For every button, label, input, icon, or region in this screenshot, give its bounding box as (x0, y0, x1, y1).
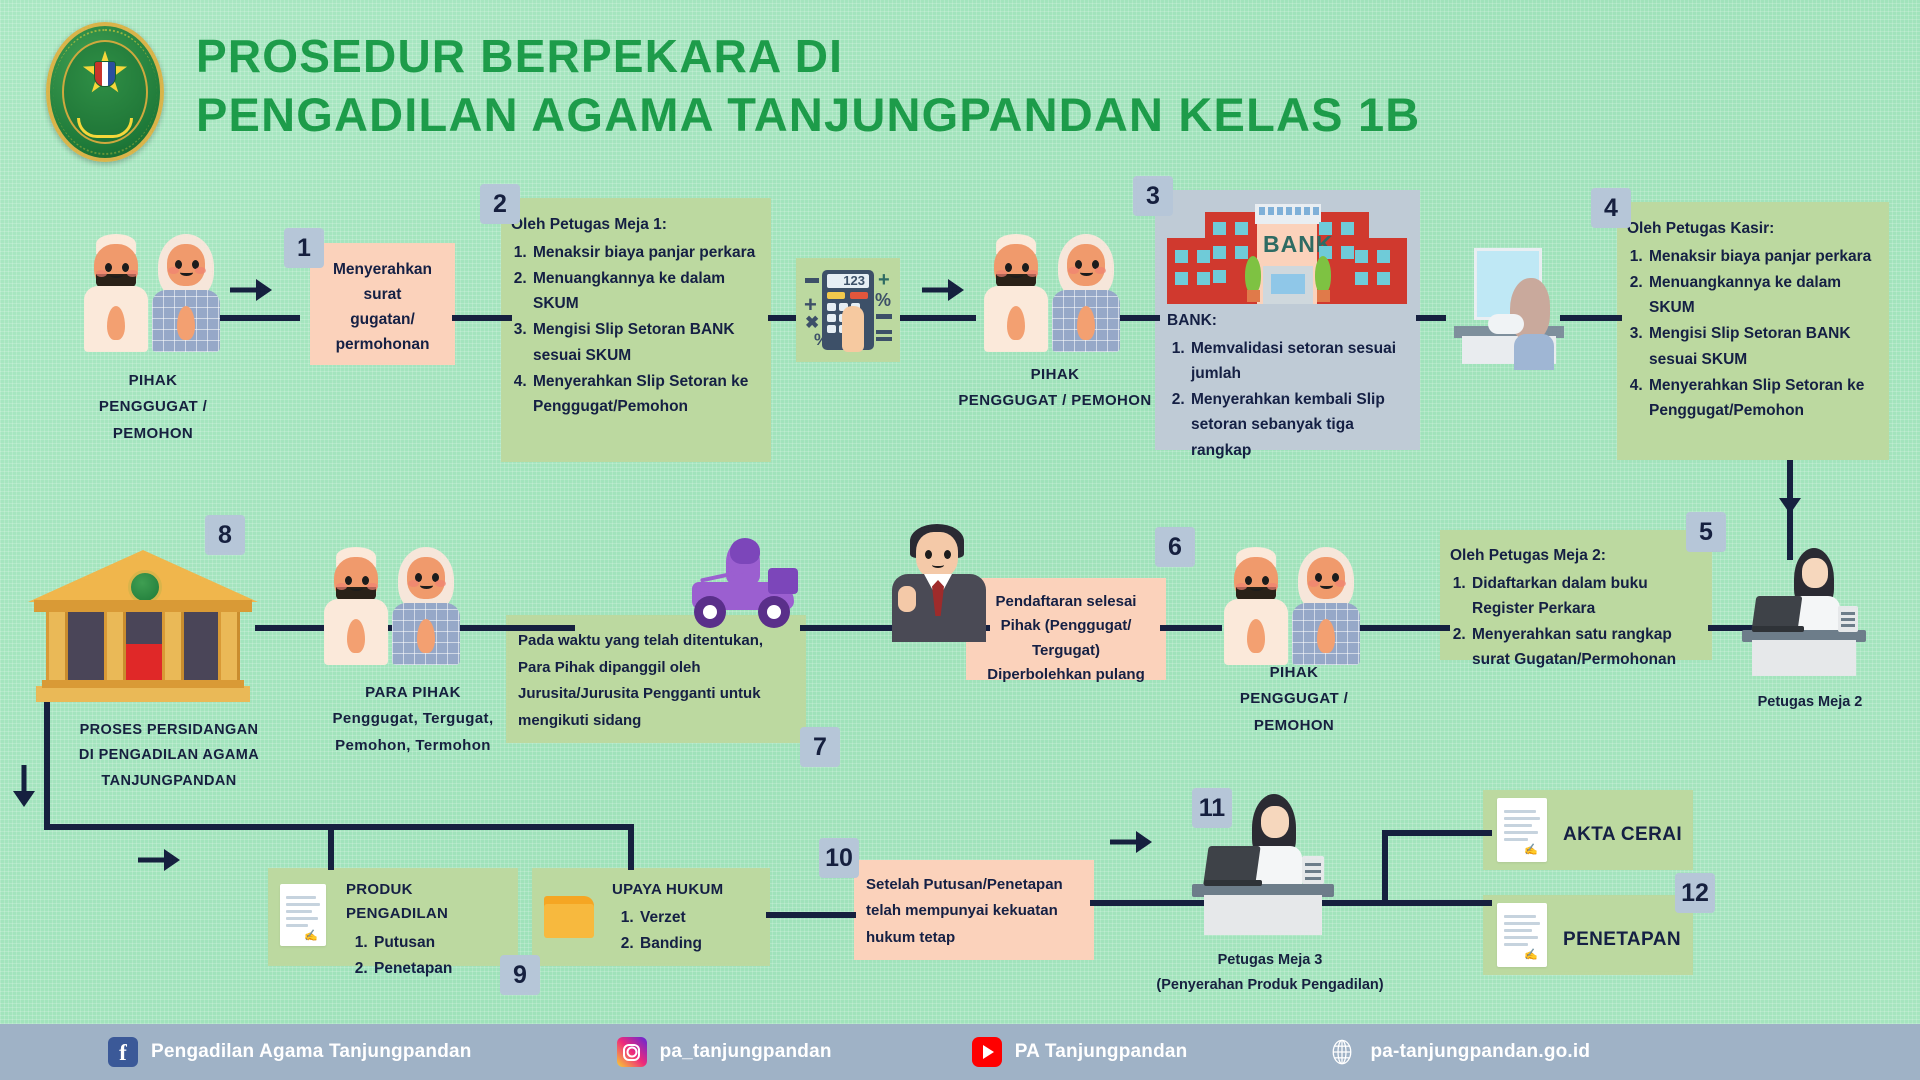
list-item: Menyerahkan Slip Setoran ke Penggugat/Pe… (1647, 373, 1879, 423)
bank-building-illustration: BANK (1167, 198, 1407, 304)
globe-icon[interactable] (1327, 1037, 1357, 1067)
list-item: Menaksir biaya panjar perkara (531, 240, 759, 265)
caption-petugas-meja-2: Petugas Meja 2 (1730, 690, 1890, 715)
list-item: Verzet (638, 905, 762, 930)
step-box-5: Oleh Petugas Meja 2: Didaftarkan dalam b… (1440, 530, 1712, 660)
list-item: Penetapan (372, 956, 510, 981)
step-box-1: Menyerahkan surat gugatan/ permohonan (310, 243, 455, 365)
equals-symbol (876, 330, 892, 334)
step-box-12-top-label: AKTA CERAI (1563, 820, 1682, 851)
step-badge-9: 9 (500, 955, 540, 995)
branch-line-2 (628, 824, 634, 870)
step-box-5-title: Oleh Petugas Meja 2: (1450, 543, 1702, 568)
step-box-10: Setelah Putusan/Penetapan telah mempunya… (854, 860, 1094, 960)
step-box-5-list: Didaftarkan dalam buku Register Perkara … (1470, 571, 1702, 672)
list-item: Menyerahkan satu rangkap surat Gugatan/P… (1470, 622, 1702, 672)
list-item: Menyerahkan Slip Setoran ke Penggugat/Pe… (531, 369, 759, 419)
courier-scooter-illustration (676, 538, 808, 630)
percent-symbol-1: % (814, 330, 829, 350)
step-box-4-list: Menaksir biaya panjar perkara Menuangkan… (1647, 244, 1879, 423)
minus-symbol-2 (876, 314, 892, 319)
step-badge-12: 12 (1675, 873, 1715, 913)
caption-parties-2: PIHAK PENGGUGAT / PEMOHON (930, 362, 1180, 415)
step-badge-5: 5 (1686, 512, 1726, 552)
footer-item-website[interactable]: pa-tanjungpandan.go.id (1327, 1037, 1590, 1067)
step-badge-10: 10 (819, 838, 859, 878)
footer-item-instagram[interactable]: pa_tanjungpandan (617, 1037, 832, 1067)
title-line-1: PROSEDUR BERPEKARA DI (196, 28, 1420, 86)
instagram-icon[interactable] (617, 1037, 647, 1067)
caption-court-process: PROSES PERSIDANGAN DI PENGADILAN AGAMA T… (24, 718, 314, 794)
step-badge-1: 1 (284, 228, 324, 268)
multiply-symbol: ✖ (805, 316, 819, 330)
footer-item-facebook[interactable]: f Pengadilan Agama Tanjungpandan (108, 1037, 472, 1067)
list-item: Menaksir biaya panjar perkara (1647, 244, 1879, 269)
branch-line-4 (1382, 830, 1492, 836)
parties-illustration-2 (978, 232, 1126, 352)
step-box-2: Oleh Petugas Meja 1: Menaksir biaya panj… (501, 198, 771, 462)
plus-symbol-2: + (878, 272, 890, 288)
cashier-window-illustration (1448, 242, 1566, 360)
caption-parties-4: PIHAK PENGGUGAT / PEMOHON (1194, 660, 1394, 739)
step-badge-8: 8 (205, 515, 245, 555)
caption-parties-3: PARA PIHAK Penggugat, Tergugat, Pemohon,… (278, 680, 548, 759)
list-item: Menyerahkan kembali Slip setoran sebanya… (1189, 387, 1410, 462)
footer-bar: f Pengadilan Agama Tanjungpandan pa_tanj… (0, 1024, 1920, 1080)
step-box-9-left-title: PRODUK PENGADILAN (346, 878, 510, 927)
caption-petugas-meja-3: Petugas Meja 3 (Penyerahan Produk Pengad… (1130, 948, 1410, 999)
list-item: Didaftarkan dalam buku Register Perkara (1470, 571, 1702, 621)
step-box-3-list: Memvalidasi setoran sesuai jumlah Menyer… (1189, 336, 1410, 463)
step-badge-4: 4 (1591, 188, 1631, 228)
step-box-2-title: Oleh Petugas Meja 1: (511, 212, 759, 237)
step-badge-2: 2 (480, 184, 520, 224)
percent-symbol-2: % (875, 290, 891, 311)
court-seal-logo (46, 22, 166, 162)
connector-line-7 (1560, 315, 1622, 321)
step-box-9-right-list: Verzet Banding (638, 905, 762, 956)
connector-line-16 (766, 912, 856, 918)
parties-illustration-4 (1218, 545, 1366, 665)
step-box-12-bottom: ✍ PENETAPAN (1483, 895, 1693, 975)
document-icon: ✍ (1497, 798, 1547, 862)
step-badge-6: 6 (1155, 527, 1195, 567)
step-box-9-right-title: UPAYA HUKUM (612, 878, 762, 902)
step-box-9-right: UPAYA HUKUM Verzet Banding (532, 868, 770, 966)
hand-cursor (842, 306, 864, 352)
footer-label-instagram: pa_tanjungpandan (660, 1041, 832, 1063)
facebook-icon[interactable]: f (108, 1037, 138, 1067)
list-item: Mengisi Slip Setoran BANK sesuai SKUM (1647, 321, 1879, 371)
document-icon: ✍ (280, 884, 326, 946)
connector-line-4 (896, 315, 976, 321)
step-box-9-left-list: Putusan Penetapan (372, 930, 510, 981)
bank-sign-text: BANK (1263, 226, 1315, 263)
connector-line-2 (452, 315, 512, 321)
step-box-12-bottom-label: PENETAPAN (1563, 925, 1681, 956)
step-box-6: Pendaftaran selesai Pihak (Penggugat/ Te… (966, 578, 1166, 680)
list-item: Menuangkannya ke dalam SKUM (1647, 270, 1879, 320)
step-box-3: BANK BANK: Memvalidasi setoran sesuai ju… (1155, 190, 1420, 450)
footer-label-youtube: PA Tanjungpandan (1015, 1041, 1188, 1063)
list-item: Banding (638, 931, 762, 956)
step-badge-11: 11 (1192, 788, 1232, 828)
footer-item-youtube[interactable]: PA Tanjungpandan (972, 1037, 1188, 1067)
parties-illustration-1 (78, 232, 226, 352)
calculator-illustration: 123 + ✖ % + % (796, 258, 900, 362)
parties-illustration-3 (318, 545, 466, 665)
connector-line-5 (1120, 315, 1160, 321)
branch-line-5 (1382, 900, 1492, 906)
connector-line-6 (1416, 315, 1446, 321)
step-box-7: Pada waktu yang telah ditentukan, Para P… (506, 615, 806, 743)
step-badge-7: 7 (800, 727, 840, 767)
connector-line-15 (44, 824, 634, 830)
connector-line-11 (1160, 625, 1222, 631)
folder-icon (544, 896, 594, 938)
list-item: Memvalidasi setoran sesuai jumlah (1189, 336, 1410, 386)
step-badge-3: 3 (1133, 176, 1173, 216)
step-box-4-title: Oleh Petugas Kasir: (1627, 216, 1879, 241)
calculator-display: 123 (827, 274, 869, 288)
step-box-3-title: BANK: (1167, 308, 1410, 333)
caption-parties-1: PIHAK PENGGUGAT / PEMOHON (48, 368, 258, 447)
document-icon: ✍ (1497, 903, 1547, 967)
step-box-12-top: ✍ AKTA CERAI (1483, 790, 1693, 870)
page-title: PROSEDUR BERPEKARA DI PENGADILAN AGAMA T… (196, 28, 1420, 144)
man-thumbs-up-illustration (884, 524, 994, 642)
minus-symbol (805, 278, 819, 283)
footer-label-website: pa-tanjungpandan.go.id (1370, 1041, 1590, 1063)
step-box-9-left: ✍ PRODUK PENGADILAN Putusan Penetapan (268, 868, 518, 966)
list-item: Menuangkannya ke dalam SKUM (531, 266, 759, 316)
youtube-icon[interactable] (972, 1037, 1002, 1067)
step-box-4: Oleh Petugas Kasir: Menaksir biaya panja… (1617, 202, 1889, 460)
page-header: PROSEDUR BERPEKARA DI PENGADILAN AGAMA T… (0, 0, 1920, 150)
title-line-2: PENGADILAN AGAMA TANJUNGPANDAN KELAS 1B (196, 86, 1420, 145)
clerk-desk-illustration-meja2 (1742, 548, 1870, 668)
plus-symbol: + (804, 296, 817, 314)
footer-label-facebook: Pengadilan Agama Tanjungpandan (151, 1041, 472, 1063)
courthouse-illustration (28, 540, 258, 710)
connector-line-12 (1360, 625, 1450, 631)
list-item: Putusan (372, 930, 510, 955)
branch-line-3 (1382, 830, 1388, 906)
list-item: Mengisi Slip Setoran BANK sesuai SKUM (531, 317, 759, 367)
step-box-2-list: Menaksir biaya panjar perkara Menuangkan… (531, 240, 759, 419)
branch-line-1 (328, 824, 334, 870)
